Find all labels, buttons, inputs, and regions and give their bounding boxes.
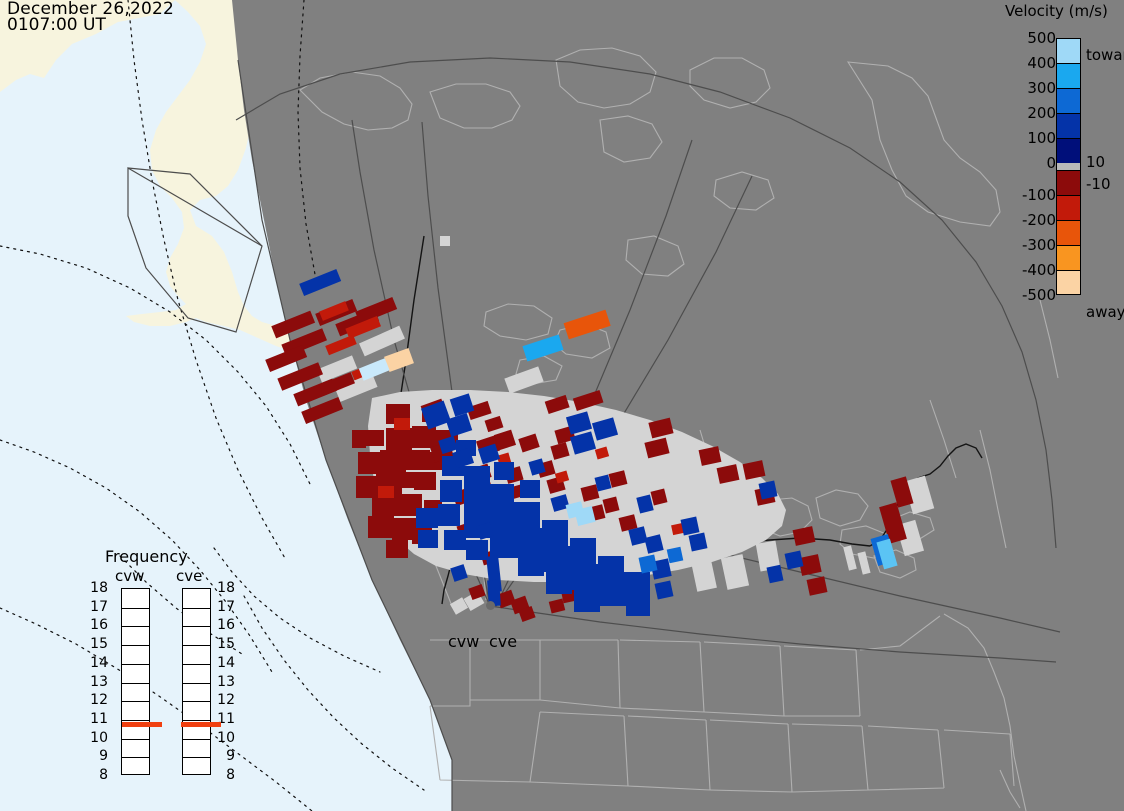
frequency-tick-cvw-10: 10 (86, 730, 108, 746)
colorbar-inner-upper-label: 10 (1086, 153, 1105, 171)
frequency-gridline (183, 757, 210, 758)
colorbar-tick-100: 100 (1000, 129, 1056, 147)
colorbar-cell-3 (1056, 113, 1081, 138)
frequency-marker-cvw (122, 722, 162, 727)
colorbar-tick--200: -200 (1000, 211, 1056, 229)
colorbar-cell-9 (1056, 245, 1081, 270)
frequency-tick-cvw-13: 13 (86, 674, 108, 690)
colorbar-cell-7 (1056, 195, 1081, 220)
frequency-gridline (122, 757, 149, 758)
frequency-gridline (183, 701, 210, 702)
colorbar-tick--400: -400 (1000, 261, 1056, 279)
colorbar-cell-10 (1056, 270, 1081, 295)
frequency-tick-cve-16: 16 (213, 617, 235, 633)
site-label-cvw: cvw (448, 632, 479, 651)
frequency-gridline (122, 645, 149, 646)
frequency-gridline (183, 626, 210, 627)
frequency-gridline (122, 701, 149, 702)
colorbar-tick--300: -300 (1000, 236, 1056, 254)
colorbar-tick-0: 0 (1000, 154, 1056, 172)
frequency-tick-cvw-11: 11 (86, 711, 108, 727)
colorbar-ground-scatter-band (1056, 163, 1081, 170)
colorbar-tick-200: 200 (1000, 104, 1056, 122)
frequency-tick-cve-10: 10 (213, 730, 235, 746)
colorbar-cell-2 (1056, 88, 1081, 113)
colorbar-tick--100: -100 (1000, 186, 1056, 204)
frequency-title: Frequency (105, 547, 188, 566)
frequency-tick-cvw-15: 15 (86, 636, 108, 652)
frequency-tick-cve-14: 14 (213, 655, 235, 671)
colorbar-tick-300: 300 (1000, 79, 1056, 97)
frequency-bar-cve (182, 588, 211, 775)
frequency-gridline (183, 683, 210, 684)
frequency-gridline (122, 608, 149, 609)
frequency-tick-cve-8: 8 (213, 767, 235, 783)
frequency-tick-cve-9: 9 (213, 748, 235, 764)
colorbar-tick-500: 500 (1000, 29, 1056, 47)
frequency-tick-cve-17: 17 (213, 599, 235, 615)
velocity-colorbar (1056, 38, 1081, 295)
frequency-gridline (122, 683, 149, 684)
frequency-gridline (122, 664, 149, 665)
frequency-tick-cvw-8: 8 (86, 767, 108, 783)
frequency-column-label-cvw: cvw (115, 567, 144, 585)
frequency-tick-cvw-14: 14 (86, 655, 108, 671)
colorbar-cell-0 (1056, 38, 1081, 63)
frequency-gridline (183, 664, 210, 665)
frequency-gridline (183, 608, 210, 609)
frequency-tick-cvw-16: 16 (86, 617, 108, 633)
frequency-tick-cve-15: 15 (213, 636, 235, 652)
colorbar-inner-lower-label: -10 (1086, 175, 1111, 193)
frequency-tick-cve-13: 13 (213, 674, 235, 690)
colorbar-tick-400: 400 (1000, 54, 1056, 72)
frequency-gridline (183, 739, 210, 740)
frequency-tick-cvw-18: 18 (86, 580, 108, 596)
colorbar-title: Velocity (m/s) (1005, 2, 1108, 20)
frequency-tick-cve-12: 12 (213, 692, 235, 708)
frequency-legend: Frequency cvw18171615141312111098cve1817… (88, 547, 228, 779)
radar-map-plot: cvw cve December 26,2022 0107:00 UT Velo… (0, 0, 1124, 811)
frequency-tick-cvw-9: 9 (86, 748, 108, 764)
frequency-gridline (183, 645, 210, 646)
site-label-cve: cve (489, 632, 517, 651)
frequency-marker-cve (181, 722, 221, 727)
colorbar-away-label: away (1086, 303, 1124, 321)
colorbar-cell-4 (1056, 138, 1081, 163)
frequency-tick-cvw-12: 12 (86, 692, 108, 708)
frequency-gridline (122, 626, 149, 627)
frequency-tick-cve-18: 18 (213, 580, 235, 596)
frequency-bar-cvw (121, 588, 150, 775)
colorbar-toward-label: toward (1086, 46, 1124, 64)
frequency-column-label-cve: cve (176, 567, 202, 585)
colorbar-tick--500: -500 (1000, 286, 1056, 304)
colorbar-cell-8 (1056, 220, 1081, 245)
time-label: 0107:00 UT (7, 17, 106, 34)
colorbar-cell-1 (1056, 63, 1081, 88)
frequency-gridline (122, 739, 149, 740)
colorbar-cell-6 (1056, 170, 1081, 195)
radar-site-dot (486, 601, 495, 610)
frequency-tick-cvw-17: 17 (86, 599, 108, 615)
